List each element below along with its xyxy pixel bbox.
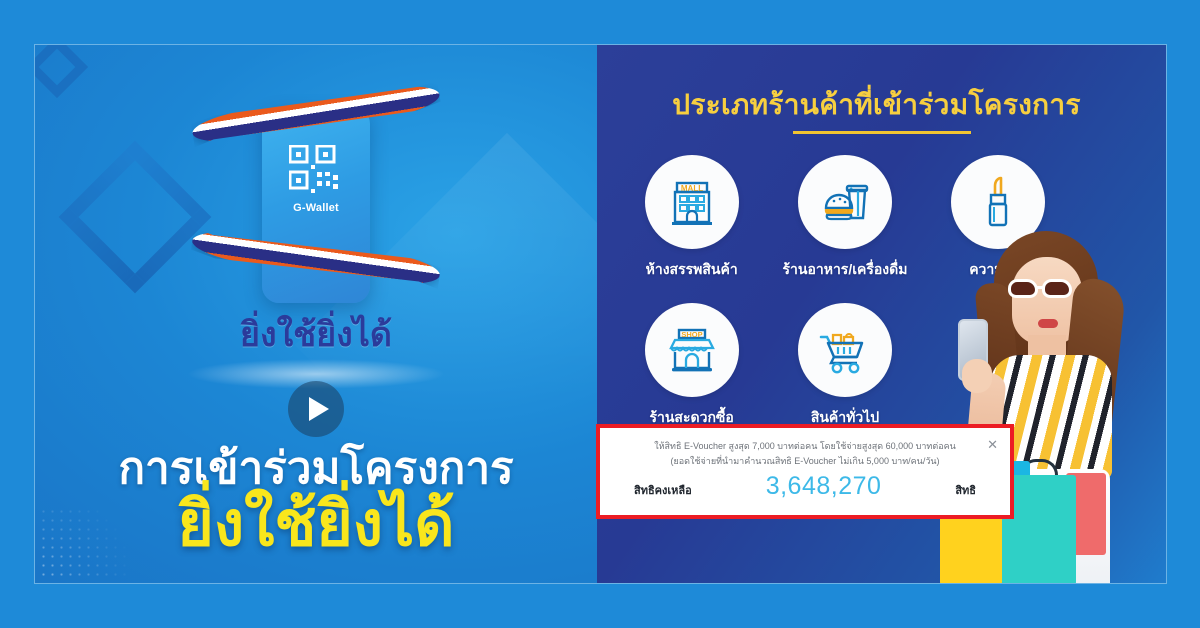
sunglass-lens-right [1042, 279, 1072, 298]
quota-unit: สิทธิ [955, 481, 976, 499]
merchant-item-general-goods[interactable]: สินค้าทั่วไป [768, 303, 921, 429]
video-play-button[interactable] [288, 381, 344, 437]
shopping-bag-yellow [940, 509, 1002, 583]
gwallet-hero-graphic: G-Wallet ยิ่งใช้ยิ่งได้ [35, 85, 597, 385]
shopping-cart-icon [798, 303, 892, 397]
title-underline [793, 131, 971, 134]
notification-description: ให้สิทธิ E-Voucher สูงสุด 7,000 บาทต่อคน… [640, 439, 970, 469]
merchant-label: ห้างสรรพสินค้า [615, 259, 768, 281]
merchant-item-food-drink[interactable]: ร้านอาหาร/เครื่องดื่ม [768, 155, 921, 281]
svg-text:SHOP: SHOP [681, 330, 702, 339]
merchant-label: ร้านอาหาร/เครื่องดื่ม [768, 259, 921, 281]
merchant-item-department-store[interactable]: MALL ห้างสรรพสินค้า [615, 155, 768, 281]
model-hand [962, 359, 992, 393]
sunglass-lens-left [1008, 279, 1038, 298]
headline-block: การเข้าร่วมโครงการ ยิ่งใช้ยิ่งได้ [35, 446, 597, 557]
headline-secondary: ยิ่งใช้ยิ่งได้ [35, 492, 597, 557]
model-lips [1038, 319, 1058, 328]
department-store-icon: MALL [645, 155, 739, 249]
remaining-quota-row: สิทธิคงเหลือ 3,648,270 สิทธิ [600, 472, 1010, 501]
quota-value: 3,648,270 [692, 472, 956, 501]
merchant-item-convenience-store[interactable]: SHOP ร้านสะดวกซื้อ [615, 303, 768, 429]
notification-line-1: ให้สิทธิ E-Voucher สูงสุด 7,000 บาทต่อคน… [640, 439, 970, 454]
close-icon[interactable]: ✕ [987, 438, 998, 451]
quota-label: สิทธิคงเหลือ [634, 481, 692, 499]
page-background: G-Wallet ยิ่งใช้ยิ่งได้ การเข้าร่วมโครงก… [0, 0, 1200, 628]
merchant-section-title: ประเภทร้านค้าที่เข้าร่วมโครงการ [597, 83, 1166, 127]
left-promo-panel: G-Wallet ยิ่งใช้ยิ่งได้ การเข้าร่วมโครงก… [35, 45, 597, 583]
food-drink-icon [798, 155, 892, 249]
convenience-store-icon: SHOP [645, 303, 739, 397]
gwallet-label: G-Wallet [293, 202, 339, 214]
woman-with-shopping-bags-photo [916, 223, 1166, 583]
play-icon [309, 397, 329, 421]
notification-line-2: (ยอดใช้จ่ายที่นำมาคำนวณสิทธิ E-Voucher ไ… [640, 454, 970, 469]
evoucher-notification-banner: ให้สิทธิ E-Voucher สูงสุด 7,000 บาทต่อคน… [596, 424, 1014, 519]
hero-slogan: ยิ่งใช้ยิ่งได้ [35, 307, 597, 361]
qr-code-icon [289, 145, 343, 197]
headline-primary: การเข้าร่วมโครงการ [35, 446, 597, 492]
